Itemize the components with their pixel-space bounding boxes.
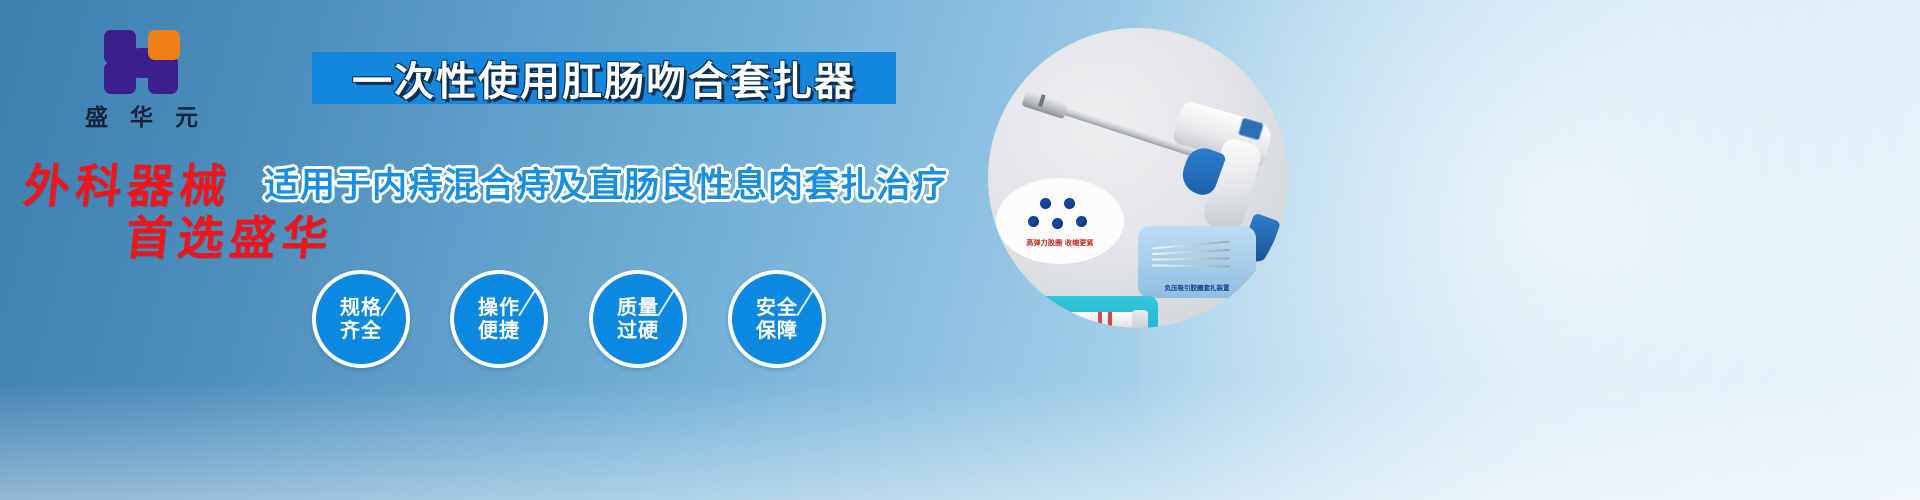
- inset-ligation-needles: 负压吸引胶圈套扎装置: [1138, 226, 1256, 298]
- inset-rubber-bands-caption: 高弹力胶圈 收缩更紧: [996, 238, 1124, 248]
- feature-badge-4-line-1: 安全: [756, 296, 798, 319]
- feature-badge-1-line-1: 规格: [340, 296, 382, 319]
- product-photo: 高弹力胶圈 收缩更紧 负压吸引胶圈套扎装置: [988, 28, 1288, 328]
- promo-banner: 盛 华 元 外科器械 首选盛华 一次性使用肛肠吻合套扎器 适用于内痔混合痔及直肠…: [0, 0, 1920, 500]
- feature-badge-4[interactable]: 安全 保障: [728, 270, 826, 368]
- brand-logo[interactable]: 盛 华 元: [60, 28, 230, 133]
- slash-accent-icon: [518, 290, 536, 317]
- feature-badge-1[interactable]: 规格 齐全: [312, 270, 410, 368]
- feature-badge-2-line-2: 便捷: [478, 319, 520, 342]
- slash-accent-icon: [796, 290, 814, 317]
- feature-badge-4-line-2: 保障: [756, 319, 798, 342]
- headline-title: 一次性使用肛肠吻合套扎器: [312, 50, 896, 106]
- shenghuayuan-blocks-logo-icon: [100, 28, 192, 96]
- inset-needles-caption: 负压吸引胶圈套扎装置: [1138, 282, 1256, 292]
- feature-badge-1-line-2: 齐全: [340, 319, 382, 342]
- feature-badge-2[interactable]: 操作 便捷: [450, 270, 548, 368]
- feature-badge-group: 规格 齐全 操作 便捷 质量 过硬 安全 保障: [312, 270, 872, 370]
- subtitle-text: 适用于内痔混合痔及直肠良性息肉套扎治疗: [296, 158, 916, 206]
- feature-badge-3-line-2: 过硬: [617, 319, 659, 342]
- bottom-fade-overlay: [0, 380, 1920, 500]
- inset-anoscope: [1028, 296, 1158, 328]
- feature-badge-3[interactable]: 质量 过硬: [589, 270, 687, 368]
- slash-accent-icon: [380, 290, 398, 317]
- brand-name: 盛 华 元: [60, 98, 230, 132]
- calligraphy-line-2: 首选盛华: [123, 202, 338, 268]
- feature-badge-2-line-1: 操作: [478, 296, 520, 319]
- slash-accent-icon: [657, 290, 675, 317]
- logo-orange-square: [148, 30, 180, 60]
- feature-badge-3-line-1: 质量: [617, 296, 659, 319]
- inset-rubber-bands: 高弹力胶圈 收缩更紧: [996, 178, 1124, 264]
